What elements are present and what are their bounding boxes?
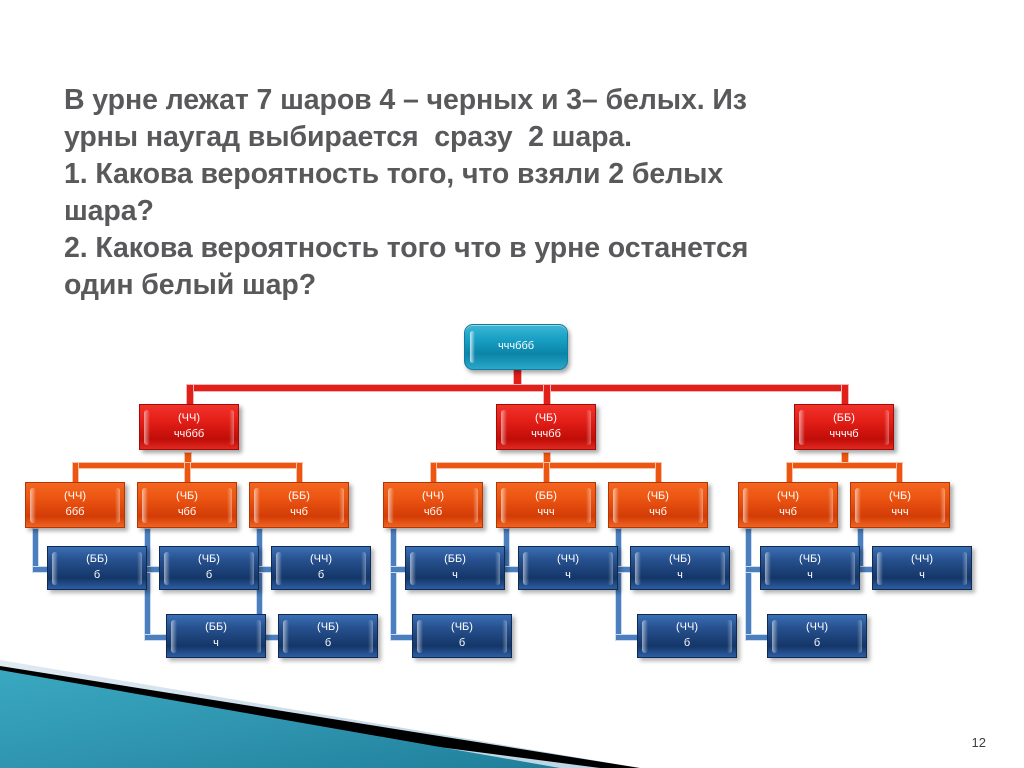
node-content: чбб (178, 505, 196, 521)
node-content: б (325, 636, 331, 652)
node-label: (ЧБ) (451, 620, 473, 636)
tree-node-level2-2[interactable]: (ЧБ) чбб (137, 482, 237, 528)
node-label: (ЧБ) (799, 552, 821, 568)
connector-g3-bus (786, 462, 903, 469)
node-label: (ЧЧ) (777, 489, 799, 505)
connector-level1-bus (186, 384, 849, 392)
connector-g2-drop-3 (655, 462, 662, 484)
tree-node-level1-2[interactable]: (ЧБ) чччбб (496, 404, 596, 450)
tree-node-root[interactable]: чччббб (464, 324, 568, 370)
tree-node-level2-5[interactable]: (ББ) ччч (496, 482, 596, 528)
tree-node-level2-6[interactable]: (ЧБ) ччб (608, 482, 708, 528)
node-label: (ЧЧ) (676, 620, 698, 636)
tree-node-level2-3[interactable]: (ББ) ччб (249, 482, 349, 528)
node-label: (ЧБ) (198, 552, 220, 568)
node-content: ччч (537, 505, 554, 521)
node-label: (ББ) (205, 620, 227, 636)
connector-b7-h2 (745, 634, 769, 641)
node-content: ччччб (829, 427, 858, 443)
tree-node-level3-r2-4[interactable]: (ЧЧ) б (637, 614, 737, 658)
connector-g3-drop-2 (896, 462, 903, 484)
node-label: (ЧБ) (669, 552, 691, 568)
tree-node-level3-r1-8[interactable]: (ЧЧ) ч (872, 546, 972, 590)
node-content: б (94, 568, 100, 584)
node-content: б (814, 636, 820, 652)
node-content: ччб (779, 505, 797, 521)
tree-node-level3-r1-5[interactable]: (ЧЧ) ч (518, 546, 618, 590)
tree-node-level1-1[interactable]: (ЧЧ) ччббб (139, 404, 239, 450)
node-label: (ББ) (86, 552, 108, 568)
node-content: ч (807, 568, 813, 584)
node-label: (ЧЧ) (64, 489, 86, 505)
connector-g2-drop-1 (430, 462, 437, 484)
title-line-6: один белый шар? (64, 267, 944, 304)
node-content: чччббб (498, 339, 534, 355)
node-content: ч (677, 568, 683, 584)
node-content: б (459, 636, 465, 652)
node-content: ч (565, 568, 571, 584)
connector-g1-drop-2 (184, 462, 191, 484)
node-label: (ЧЧ) (557, 552, 579, 568)
tree-node-level3-r1-4[interactable]: (ББ) ч (405, 546, 505, 590)
title-line-1: В урне лежат 7 шаров 4 – черных и 3– бел… (64, 82, 944, 119)
tree-node-level3-r1-3[interactable]: (ЧЧ) б (271, 546, 371, 590)
tree-node-level3-r1-7[interactable]: (ЧБ) ч (760, 546, 860, 590)
connector-g2-drop-2 (543, 462, 550, 484)
connector-g3-drop-1 (786, 462, 793, 484)
tree-node-level3-r2-1[interactable]: (ББ) ч (166, 614, 266, 658)
tree-node-level1-3[interactable]: (ББ) ччччб (794, 404, 894, 450)
node-label: (ББ) (535, 489, 557, 505)
tree-node-level3-r2-5[interactable]: (ЧЧ) б (767, 614, 867, 658)
node-label: (ЧБ) (176, 489, 198, 505)
node-content: ч (919, 568, 925, 584)
node-content: чбб (424, 505, 442, 521)
node-label: (ЧБ) (647, 489, 669, 505)
tree-node-level2-4[interactable]: (ЧЧ) чбб (383, 482, 483, 528)
node-label: (ЧЧ) (422, 489, 444, 505)
page-number: 12 (972, 735, 986, 750)
connector-b7-v (745, 528, 752, 640)
node-content: ббб (66, 505, 85, 521)
tree-node-level2-1[interactable]: (ЧЧ) ббб (25, 482, 125, 528)
node-content: б (318, 568, 324, 584)
title-line-4: шара? (64, 193, 944, 230)
node-label: (ЧБ) (535, 411, 557, 427)
node-label: (ЧЧ) (310, 552, 332, 568)
node-content: ччб (649, 505, 667, 521)
connector-g1-drop-1 (72, 462, 79, 484)
node-content: ч (452, 568, 458, 584)
node-label: (ББ) (833, 411, 855, 427)
node-label: (ЧЧ) (806, 620, 828, 636)
tree-node-level2-8[interactable]: (ЧБ) ччч (850, 482, 950, 528)
node-label: (ЧБ) (317, 620, 339, 636)
node-content: ччч (891, 505, 908, 521)
node-label: (ЧЧ) (178, 411, 200, 427)
title-line-2: урны наугад выбирается сразу 2 шара. (64, 119, 944, 156)
node-content: ч (213, 636, 219, 652)
node-label: (ББ) (288, 489, 310, 505)
node-content: б (684, 636, 690, 652)
node-label: (ЧБ) (889, 489, 911, 505)
tree-node-level3-r1-1[interactable]: (ББ) б (47, 546, 147, 590)
node-content: чччбб (531, 427, 561, 443)
node-label: (ББ) (444, 552, 466, 568)
title-line-3: 1. Какова вероятность того, что взяли 2 … (64, 156, 944, 193)
page-title: В урне лежат 7 шаров 4 – черных и 3– бел… (64, 82, 944, 304)
tree-node-level2-7[interactable]: (ЧЧ) ччб (738, 482, 838, 528)
tree-node-level3-r1-6[interactable]: (ЧБ) ч (630, 546, 730, 590)
node-label: (ЧЧ) (911, 552, 933, 568)
connector-g1-drop-3 (296, 462, 303, 484)
node-content: б (206, 568, 212, 584)
slide-canvas: В урне лежат 7 шаров 4 – черных и 3– бел… (0, 0, 1024, 768)
node-content: ччббб (174, 427, 204, 443)
node-content: ччб (290, 505, 308, 521)
tree-node-level3-r2-2[interactable]: (ЧБ) б (278, 614, 378, 658)
tree-node-level3-r1-2[interactable]: (ЧБ) б (159, 546, 259, 590)
title-line-5: 2. Какова вероятность того что в урне ос… (64, 230, 944, 267)
tree-node-level3-r2-3[interactable]: (ЧБ) б (412, 614, 512, 658)
